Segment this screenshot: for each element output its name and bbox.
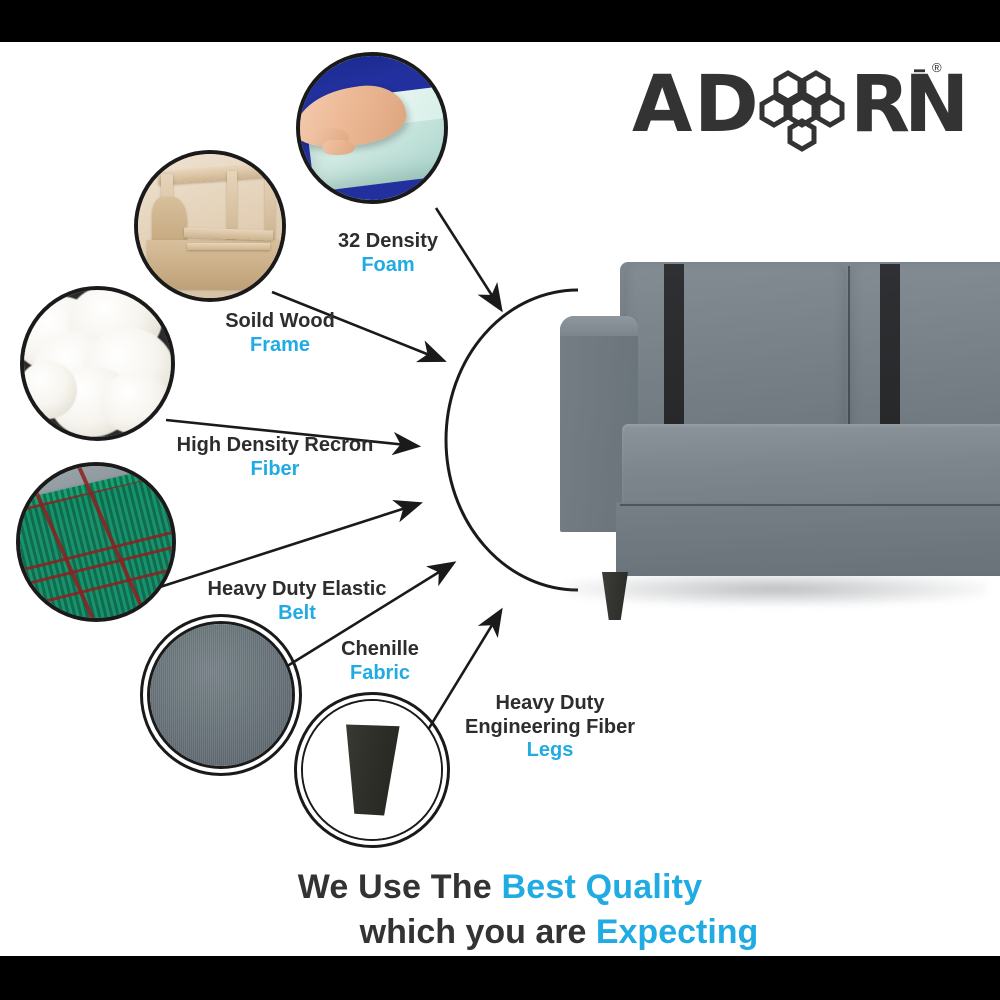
- sofa-armrest-top: [560, 316, 638, 336]
- sofa-leg-thumbnail: [301, 699, 443, 841]
- infographic-canvas: A D R N INDIA ®: [0, 0, 1000, 1000]
- tagline-line2-plain: which you are: [360, 913, 596, 951]
- logo-letter-d: D: [694, 66, 757, 144]
- logo-letter-a: A: [632, 66, 690, 144]
- logo-letter-r: R: [850, 66, 908, 144]
- sofa-cushion-seam: [848, 266, 850, 446]
- tagline: We Use The Best Quality which you are Ex…: [0, 868, 1000, 952]
- label-fiber: High Density Recron Fiber: [130, 434, 420, 481]
- leg-shape: [344, 724, 399, 815]
- label-legs-title-line2: Engineering Fiber: [465, 716, 635, 738]
- letterbox-top: [0, 0, 1000, 42]
- sofa-seat-cushion: [622, 424, 1000, 508]
- label-fabric: Chenille Fabric: [300, 638, 460, 685]
- label-legs-title-line1: Heavy Duty: [496, 692, 605, 714]
- sofa-leg: [602, 572, 628, 620]
- elastic-belt-thumbnail: [16, 462, 176, 622]
- sofa-shadow: [566, 572, 986, 606]
- label-fiber-title: High Density Recron: [177, 434, 374, 456]
- wood-frame-photo: [138, 154, 282, 298]
- label-legs-highlight: Legs: [450, 739, 650, 763]
- fiber-photo: [24, 290, 171, 437]
- label-fiber-highlight: Fiber: [130, 458, 420, 482]
- finger: [323, 140, 355, 156]
- label-fabric-title: Chenille: [341, 638, 419, 660]
- tagline-line2-accent: Expecting: [596, 913, 758, 951]
- label-frame: Soild Wood Frame: [180, 310, 380, 357]
- wood-frame-thumbnail: [134, 150, 286, 302]
- registered-trademark-icon: ®: [932, 60, 942, 75]
- frame-post: [265, 173, 275, 239]
- letterbox-bottom: [0, 956, 1000, 1000]
- sofa-base-seam: [620, 504, 1000, 506]
- tagline-line1-accent: Best Quality: [501, 868, 702, 906]
- sofa-back-cushion-left: [624, 264, 846, 446]
- belt-photo: [20, 466, 172, 618]
- frame-crossbar: [187, 243, 271, 250]
- label-belt-title: Heavy Duty Elastic: [208, 578, 387, 600]
- frame-rail: [158, 165, 268, 186]
- label-foam-title: 32 Density: [338, 230, 438, 252]
- label-frame-highlight: Frame: [180, 334, 380, 358]
- fabric-swatch: [150, 624, 292, 766]
- tagline-line-2: which you are Expecting: [0, 913, 1000, 952]
- brand-logo: A D R N INDIA ®: [632, 60, 952, 146]
- product-sofa-image: [560, 220, 1000, 670]
- fiber-tuft: [20, 361, 77, 420]
- foam-photo: [300, 56, 444, 200]
- leg-photo: [303, 701, 441, 839]
- sofa-back-cushion-right: [850, 264, 1000, 446]
- sofa-accent-stripe-right: [880, 264, 900, 450]
- logo-subtext-india: INDIA: [910, 68, 928, 131]
- label-fabric-highlight: Fabric: [300, 662, 460, 686]
- convergence-arc: [446, 290, 578, 590]
- tagline-line1-plain: We Use The: [298, 868, 502, 906]
- label-legs: Heavy Duty Engineering Fiber Legs: [450, 692, 650, 763]
- recron-fiber-thumbnail: [20, 286, 175, 441]
- arrow-belt: [160, 504, 418, 587]
- hexagon-cluster-icon: [754, 70, 850, 156]
- sofa-base: [616, 502, 1000, 576]
- label-foam: 32 Density Foam: [318, 230, 458, 277]
- sofa-accent-stripe-left: [664, 264, 684, 450]
- frame-crossbar: [184, 227, 274, 240]
- label-foam-highlight: Foam: [318, 254, 458, 278]
- fiber-tuft: [100, 372, 171, 434]
- label-frame-title: Soild Wood: [225, 310, 335, 332]
- chenille-fabric-thumbnail: [147, 621, 295, 769]
- tagline-line-1: We Use The Best Quality: [0, 868, 1000, 907]
- content-area: A D R N INDIA ®: [0, 42, 1000, 956]
- foam-thumbnail: [296, 52, 448, 204]
